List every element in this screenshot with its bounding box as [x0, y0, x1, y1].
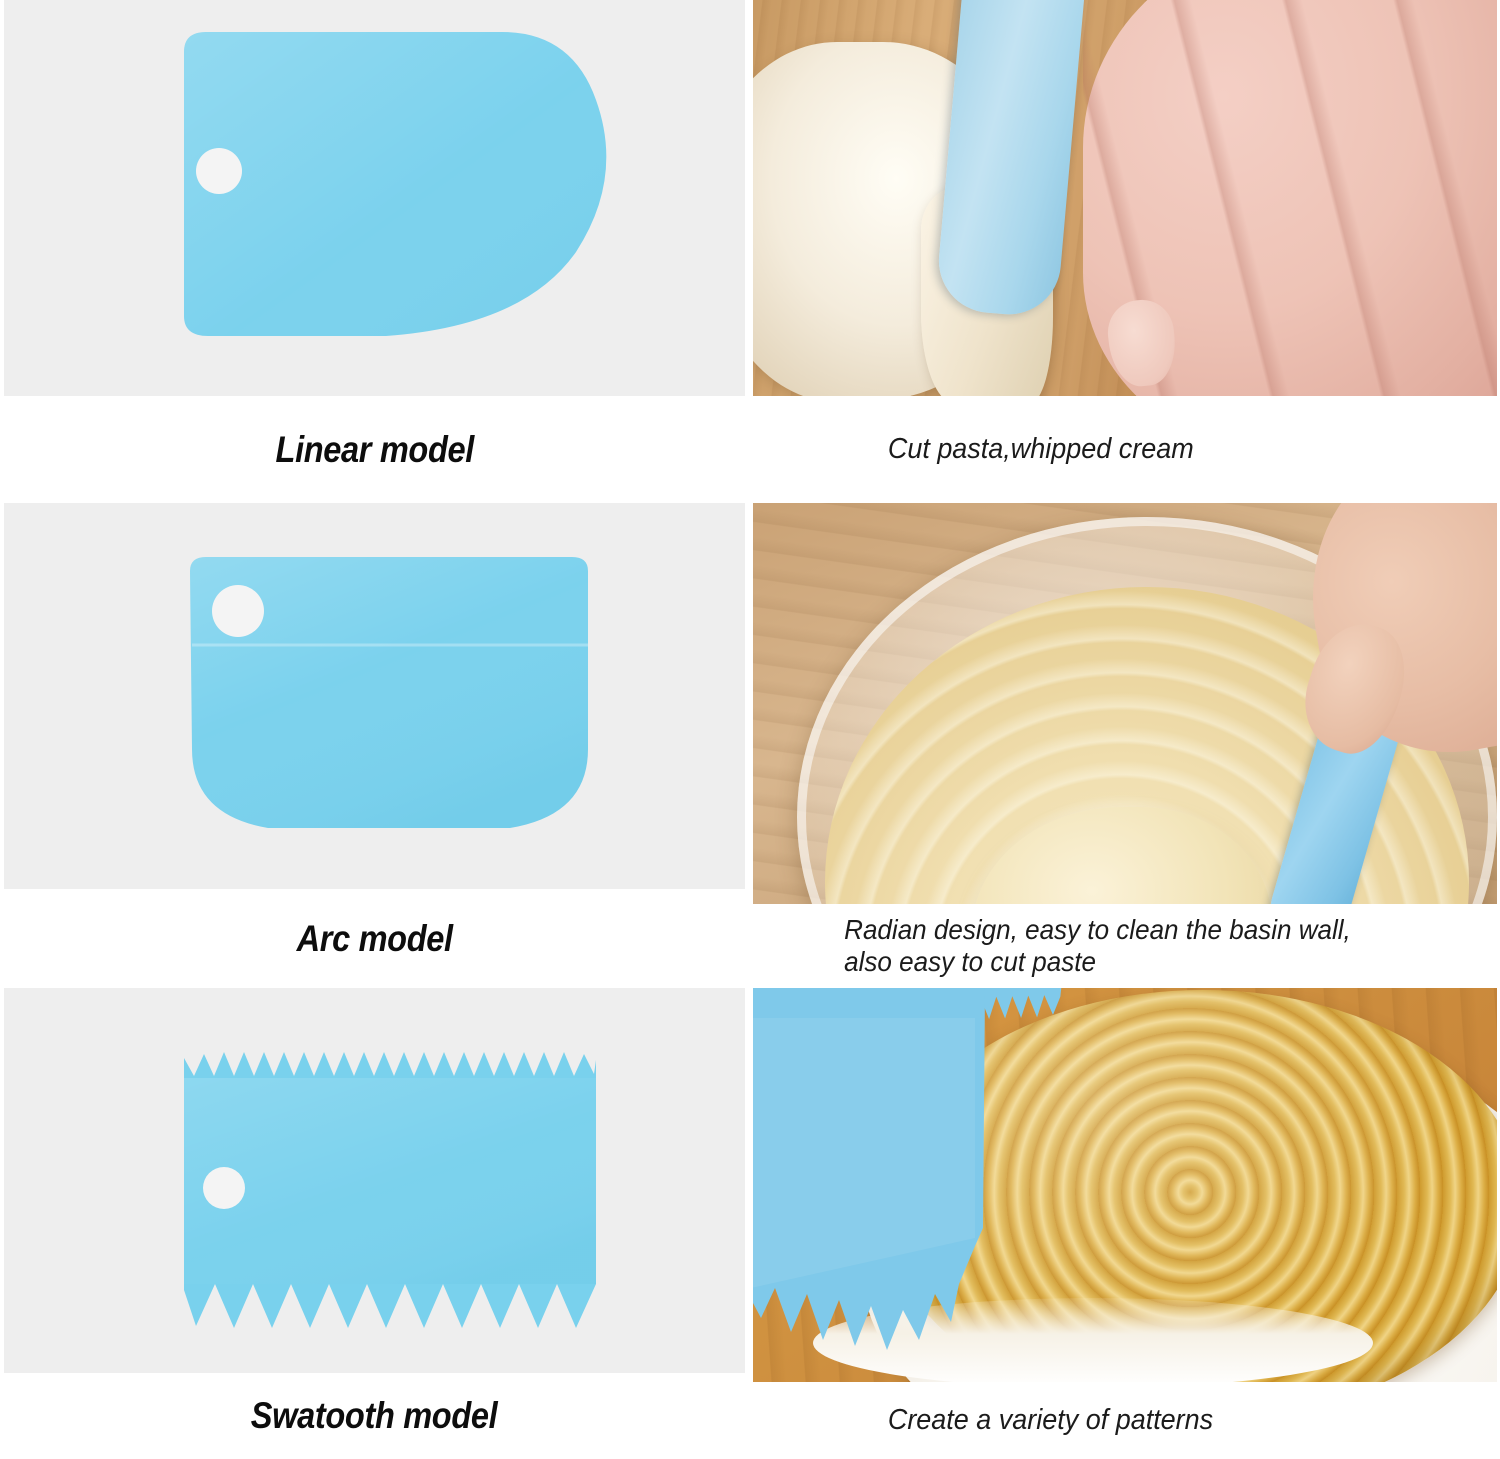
- blue-sawtooth-scraper: [753, 988, 1093, 1382]
- usage-photo-sawtooth: [753, 988, 1497, 1382]
- product-row-sawtooth: Swatooth model Create a variety of patte…: [0, 988, 1500, 1459]
- caption-band-arc: Radian design, easy to clean the basin w…: [753, 904, 1497, 988]
- model-label-sawtooth: Swatooth model: [251, 1395, 498, 1437]
- usage-photo-linear: [753, 0, 1497, 396]
- usage-photo-arc: [753, 503, 1497, 904]
- model-label-arc: Arc model: [296, 918, 452, 960]
- caption-band-sawtooth: Create a variety of patterns: [753, 1382, 1497, 1459]
- model-label-band-sawtooth: Swatooth model: [4, 1373, 745, 1459]
- product-infographic: Linear model Cut pasta,whipped cream: [0, 0, 1500, 1459]
- model-label-band-linear: Linear model: [4, 396, 745, 503]
- model-label-band-arc: Arc model: [4, 889, 745, 988]
- caption-sawtooth: Create a variety of patterns: [753, 1404, 1213, 1438]
- product-image-panel-arc: [4, 503, 745, 889]
- product-image-panel-sawtooth: [4, 988, 745, 1373]
- caption-band-linear: Cut pasta,whipped cream: [753, 396, 1497, 503]
- linear-scraper-icon: [172, 26, 627, 346]
- model-label-linear: Linear model: [275, 429, 473, 471]
- product-row-arc: Arc model Radian design, easy to clean t…: [0, 503, 1500, 988]
- arc-scraper-icon: [180, 553, 600, 846]
- product-image-panel-linear: [4, 0, 745, 396]
- caption-arc: Radian design, easy to clean the basin w…: [753, 914, 1351, 979]
- product-row-linear: Linear model Cut pasta,whipped cream: [0, 0, 1500, 503]
- caption-linear: Cut pasta,whipped cream: [753, 433, 1194, 467]
- sawtooth-scraper-icon: [176, 1038, 604, 1338]
